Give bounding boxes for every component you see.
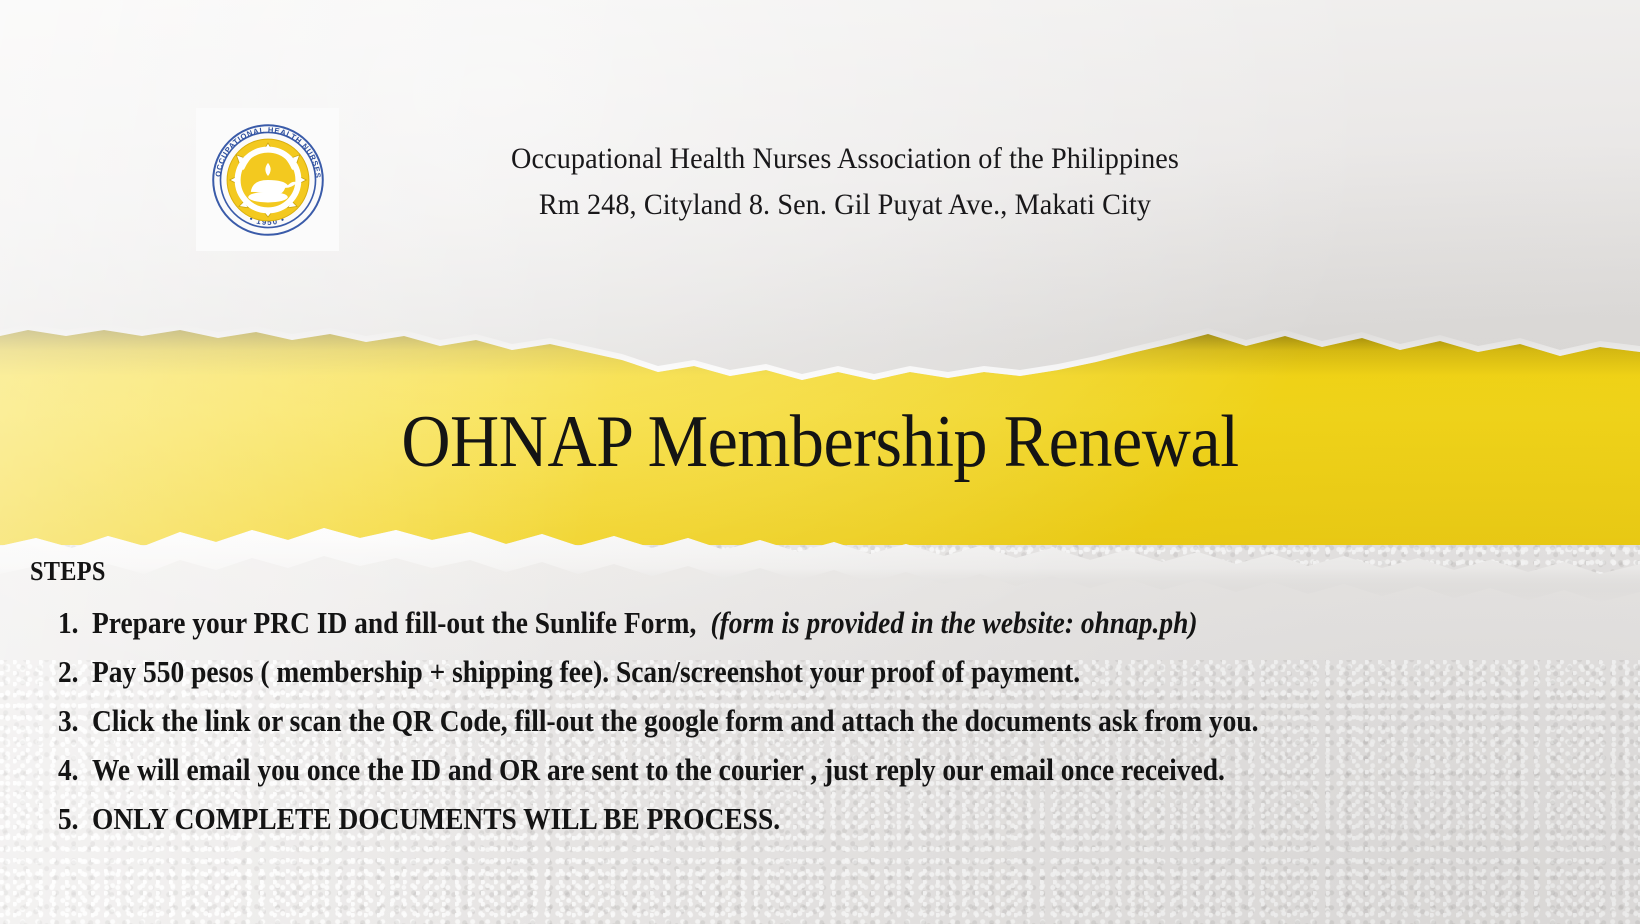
step-item: 4.We will email you once the ID and OR a… xyxy=(58,745,1628,794)
step-text-wrap: Prepare your PRC ID and fill-out the Sun… xyxy=(92,598,1197,647)
step-text-wrap: Click the link or scan the QR Code, fill… xyxy=(92,696,1258,745)
page-title: OHNAP Membership Renewal xyxy=(66,396,1575,488)
step-text: Click the link or scan the QR Code, fill… xyxy=(92,703,1258,738)
step-number: 1. xyxy=(58,598,88,647)
step-item: 3.Click the link or scan the QR Code, fi… xyxy=(58,696,1628,745)
step-text: Pay 550 pesos ( membership + shipping fe… xyxy=(92,654,1080,689)
seal-icon: OCCUPATIONAL HEALTH NURSES ASSOCIATION O… xyxy=(202,114,334,246)
organization-name: Occupational Health Nurses Association o… xyxy=(464,136,1225,182)
steps-list: 1.Prepare your PRC ID and fill-out the S… xyxy=(58,598,1628,843)
step-text-wrap: We will email you once the ID and OR are… xyxy=(92,745,1225,794)
step-text-wrap: ONLY COMPLETE DOCUMENTS WILL BE PROCESS. xyxy=(92,794,780,843)
step-item: 5.ONLY COMPLETE DOCUMENTS WILL BE PROCES… xyxy=(58,794,1628,843)
step-number: 3. xyxy=(58,696,88,745)
step-number: 4. xyxy=(58,745,88,794)
ohnap-seal-logo: OCCUPATIONAL HEALTH NURSES ASSOCIATION O… xyxy=(196,108,339,251)
step-text-wrap: Pay 550 pesos ( membership + shipping fe… xyxy=(92,647,1080,696)
step-item: 1.Prepare your PRC ID and fill-out the S… xyxy=(58,598,1628,647)
organization-header: Occupational Health Nurses Association o… xyxy=(440,136,1250,228)
step-number: 5. xyxy=(58,794,88,843)
step-item: 2.Pay 550 pesos ( membership + shipping … xyxy=(58,647,1628,696)
step-text: Prepare your PRC ID and fill-out the Sun… xyxy=(92,605,696,640)
steps-heading: STEPS xyxy=(30,556,106,587)
step-note: (form is provided in the website: ohnap.… xyxy=(696,605,1197,640)
step-number: 2. xyxy=(58,647,88,696)
step-text: ONLY COMPLETE DOCUMENTS WILL BE PROCESS. xyxy=(92,801,780,836)
organization-address: Rm 248, Cityland 8. Sen. Gil Puyat Ave.,… xyxy=(464,182,1225,228)
step-text: We will email you once the ID and OR are… xyxy=(92,752,1225,787)
